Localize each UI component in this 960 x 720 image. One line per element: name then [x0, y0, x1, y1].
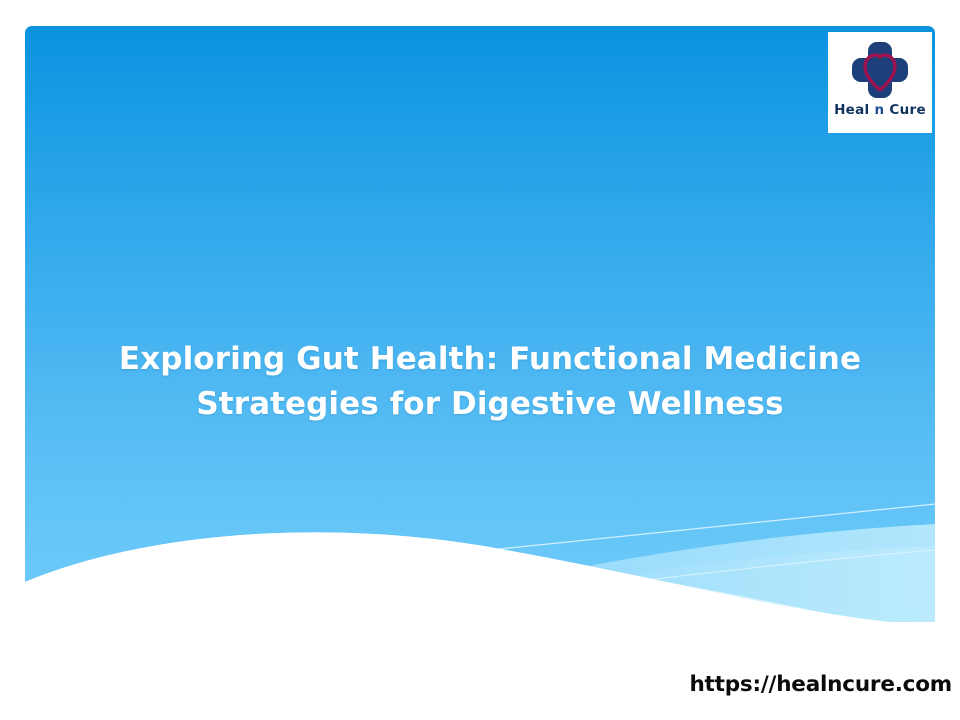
brand-logo-text: Heal n Cure [828, 102, 932, 118]
brand-word-cure: Cure [889, 102, 926, 118]
presentation-slide: Exploring Gut Health: Functional Medicin… [0, 0, 960, 720]
brand-word-heal: Heal [834, 102, 869, 118]
page-title: Exploring Gut Health: Functional Medicin… [90, 337, 890, 427]
page-title-line-1: Exploring Gut Health: Functional Medicin… [90, 337, 890, 382]
brand-word-n: n [874, 102, 884, 118]
page-title-line-2: Strategies for Digestive Wellness [90, 382, 890, 427]
heal-n-cure-logo-icon [828, 36, 932, 104]
brand-logo: Heal n Cure [828, 32, 932, 133]
decorative-wave-graphic [25, 26, 935, 622]
website-url[interactable]: https://healncure.com [0, 672, 952, 697]
slide-background-panel [25, 26, 935, 622]
